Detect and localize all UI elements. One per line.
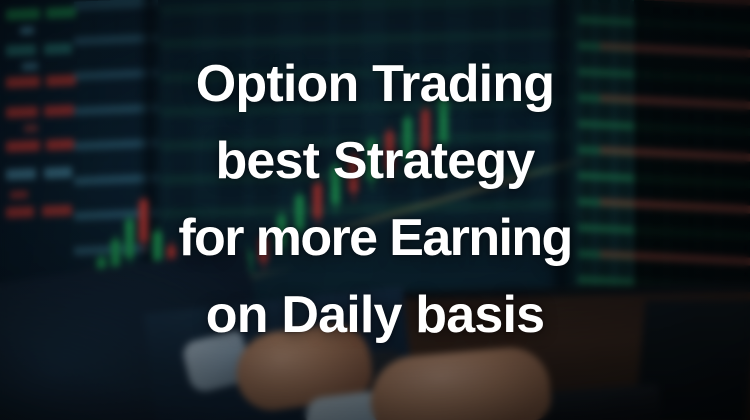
headline-line-2: best Strategy bbox=[0, 123, 750, 200]
headline: Option Trading best Strategy for more Ea… bbox=[0, 46, 750, 354]
headline-line-4: on Daily basis bbox=[0, 277, 750, 354]
headline-line-1: Option Trading bbox=[0, 46, 750, 123]
poster-image: Option Trading best Strategy for more Ea… bbox=[0, 0, 750, 420]
headline-line-3: for more Earning bbox=[0, 200, 750, 277]
